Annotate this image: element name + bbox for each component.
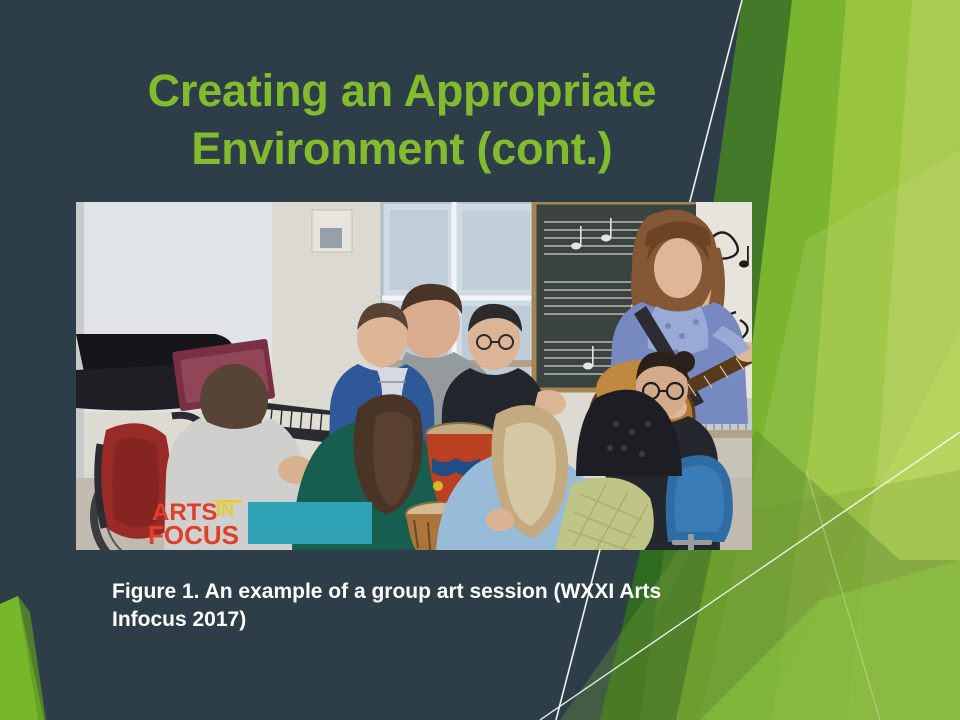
slide-title: Creating an Appropriate Environment (con…: [72, 62, 732, 177]
group-art-session-illustration: ARTS IN FOCUS: [76, 202, 752, 550]
facet-bottom-bright: [700, 560, 960, 720]
facet-bottom-left-wedge-shadow: [18, 596, 46, 720]
figure-caption: Figure 1. An example of a group art sess…: [112, 578, 712, 633]
presentation-slide: Creating an Appropriate Environment (con…: [0, 0, 960, 720]
accent-line-faint: [806, 470, 880, 720]
figure-image: ARTS IN FOCUS: [76, 202, 752, 550]
facet-light-right: [770, 0, 912, 720]
facet-pale-right: [846, 0, 960, 720]
facet-bottom-left-wedge: [0, 596, 44, 720]
